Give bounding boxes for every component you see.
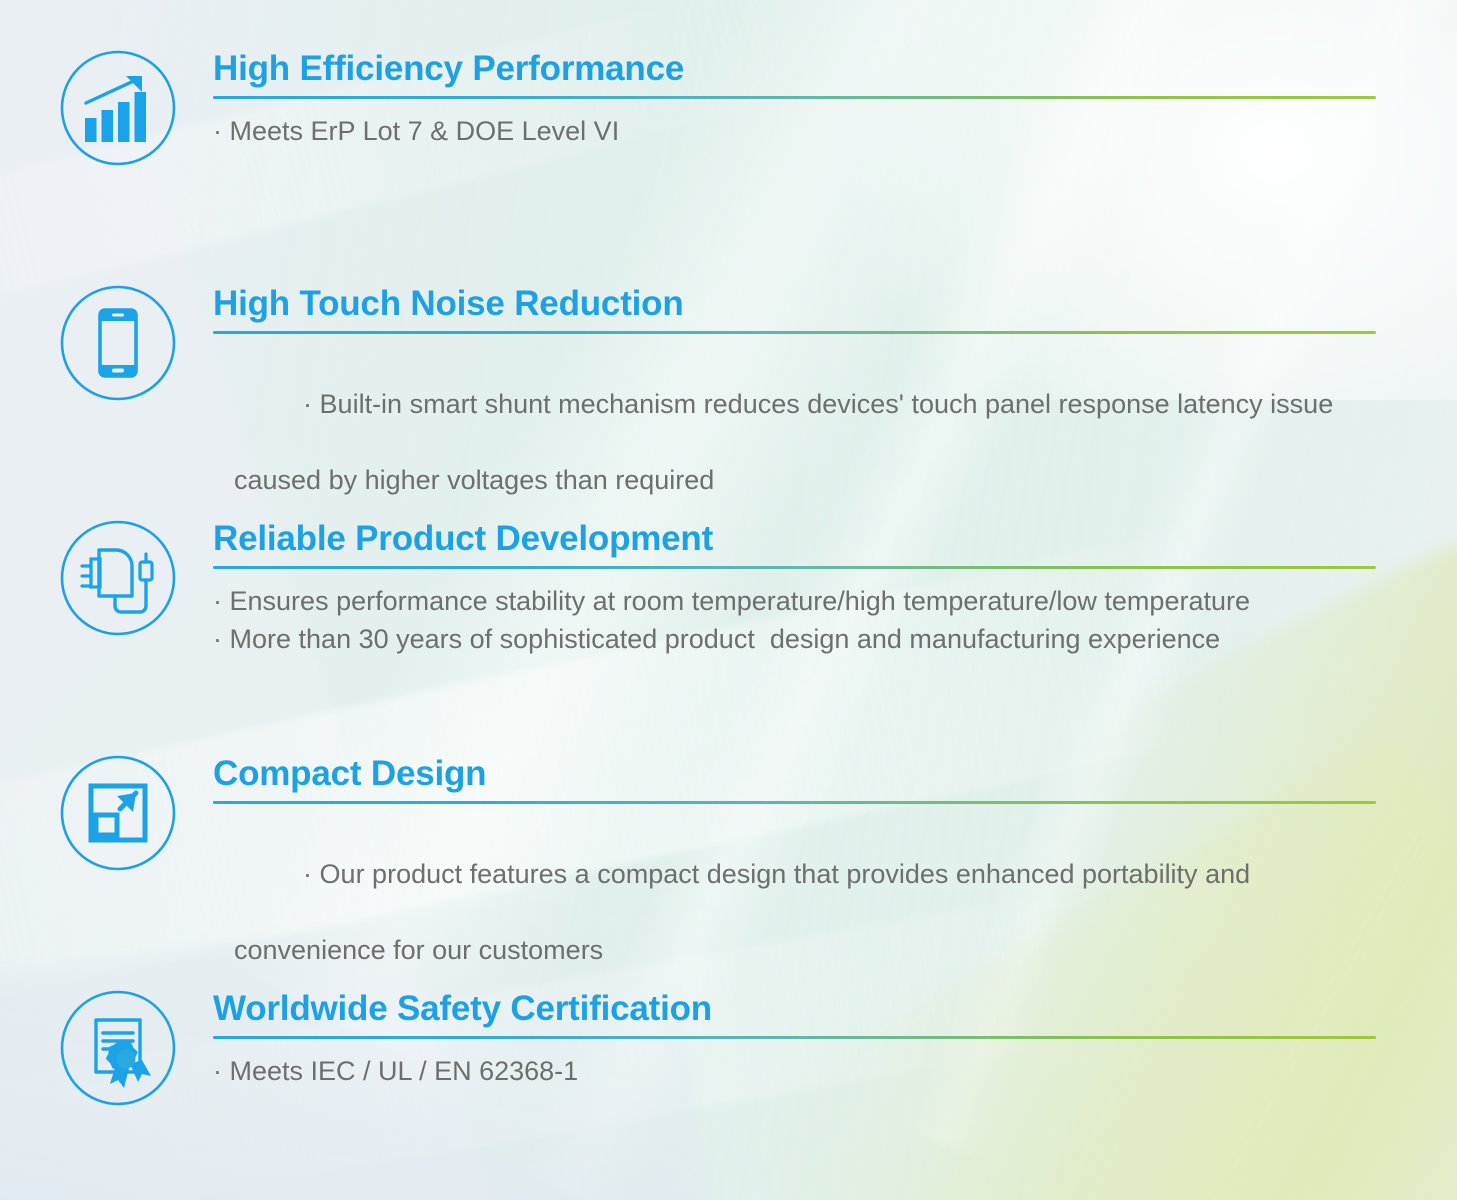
bullet-item: · More than 30 years of sophisticated pr… [213,620,1378,658]
feature-title: Compact Design [213,753,1378,795]
bullet-text-continued: convenience for our customers [213,931,1378,969]
bullet-text: Meets IEC / UL / EN 62368-1 [230,1056,579,1086]
feature-list: High Efficiency Performance · Meets ErP … [0,0,1457,1200]
bullet-marker: · [303,859,312,889]
bullet-text: More than 30 years of sophisticated prod… [230,624,1221,654]
feature-divider [213,566,1376,569]
feature-divider [213,1036,1376,1039]
bullet-text: Meets ErP Lot 7 & DOE Level VI [230,116,620,146]
feature-highlights-page: High Efficiency Performance · Meets ErP … [0,0,1457,1200]
certificate-award-icon [58,988,178,1108]
feature-body: High Efficiency Performance · Meets ErP … [213,48,1378,150]
bullet-marker: · [213,586,222,616]
feature-body: Reliable Product Development · Ensures p… [213,518,1378,658]
feature-title: Worldwide Safety Certification [213,988,1378,1030]
bullet-text: Our product features a compact design th… [320,859,1251,889]
bullet-marker: · [213,1056,222,1086]
feature-body: Worldwide Safety Certification · Meets I… [213,988,1378,1090]
bullet-text: Built-in smart shunt mechanism reduces d… [320,389,1334,419]
feature-divider [213,801,1376,804]
bullet-item: · Meets IEC / UL / EN 62368-1 [213,1052,1378,1090]
bullet-text: Ensures performance stability at room te… [230,586,1250,616]
feature-bullets: · Ensures performance stability at room … [213,582,1378,658]
power-adapter-icon [58,518,178,638]
bullet-marker: · [213,116,222,146]
compact-resize-icon [58,753,178,873]
feature-title: Reliable Product Development [213,518,1378,560]
feature-title: High Touch Noise Reduction [213,283,1378,325]
feature-bullets: · Meets IEC / UL / EN 62368-1 [213,1052,1378,1090]
feature-title: High Efficiency Performance [213,48,1378,90]
growth-bar-chart-icon [58,48,178,168]
bullet-item: · Meets ErP Lot 7 & DOE Level VI [213,112,1378,150]
bullet-text-continued: caused by higher voltages than required [213,461,1378,499]
feature-divider [213,331,1376,334]
feature-divider [213,96,1376,99]
feature-bullets: · Meets ErP Lot 7 & DOE Level VI [213,112,1378,150]
bullet-marker: · [303,389,312,419]
bullet-marker: · [213,624,222,654]
bullet-item: · Ensures performance stability at room … [213,582,1378,620]
smartphone-icon [58,283,178,403]
